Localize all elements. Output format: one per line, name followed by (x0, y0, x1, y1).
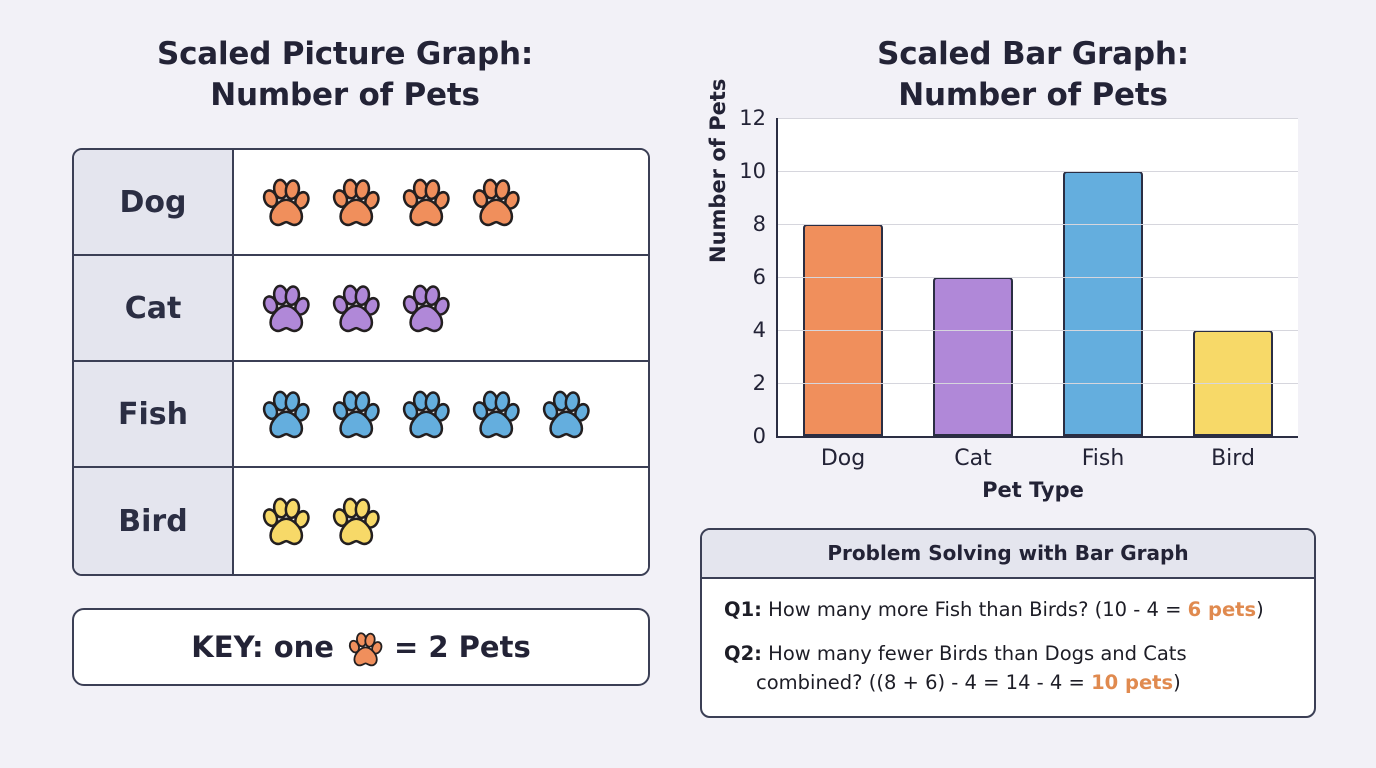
key-prefix-label: KEY: one (191, 630, 334, 664)
picture-graph-panel: Scaled Picture Graph: Number of Pets Dog… (0, 0, 690, 768)
y-axis-tick-label: 8 (753, 212, 778, 236)
picture-graph-row-icons (234, 468, 648, 574)
picture-graph-key: KEY: one = 2 Pets (72, 608, 650, 686)
bar-fish (1063, 171, 1143, 436)
paw-icon (326, 386, 382, 442)
x-axis-tick-label: Cat (908, 436, 1038, 471)
paw-icon (396, 386, 452, 442)
paw-icon (466, 174, 522, 230)
problem-question: Q1: How many more Fish than Birds? (10 -… (724, 595, 1292, 625)
paw-icon (256, 174, 312, 230)
question-answer: 6 pets (1188, 598, 1256, 621)
y-axis-tick-label: 4 (753, 318, 778, 342)
question-text-continuation: combined? ((8 + 6) - 4 = 14 - 4 = 10 pet… (724, 668, 1292, 698)
y-axis-label: Number of Pets (706, 79, 730, 263)
paw-icon (396, 174, 452, 230)
picture-graph-row-label: Fish (74, 362, 234, 466)
bar-chart: Number of Pets DogCatFishBird 024681012 … (698, 118, 1368, 508)
plot-area: DogCatFishBird 024681012 (776, 118, 1298, 438)
paw-icon (326, 493, 382, 549)
question-text: How many more Fish than Birds? (10 - 4 = (762, 598, 1188, 621)
bar-graph-title-line2: Number of Pets (690, 75, 1376, 116)
question-text-tail: ) (1256, 598, 1264, 621)
paw-icon (536, 386, 592, 442)
y-axis-tick-label: 2 (753, 371, 778, 395)
gridline (778, 277, 1298, 278)
question-tag: Q2: (724, 642, 762, 665)
question-tag: Q1: (724, 598, 762, 621)
gridline (778, 224, 1298, 225)
paw-icon (256, 280, 312, 336)
picture-graph-row-label: Cat (74, 256, 234, 360)
picture-graph-row-icons (234, 362, 648, 466)
picture-graph-row: Dog (74, 150, 648, 256)
bar-graph-title-line1: Scaled Bar Graph: (877, 36, 1189, 72)
infographic-page: Scaled Picture Graph: Number of Pets Dog… (0, 0, 1376, 768)
picture-graph-row-label: Dog (74, 150, 234, 254)
picture-graph-row: Bird (74, 468, 648, 574)
problem-solving-box: Problem Solving with Bar Graph Q1: How m… (700, 528, 1316, 718)
picture-graph-title-line1: Scaled Picture Graph: (157, 36, 533, 72)
gridline (778, 171, 1298, 172)
picture-graph-title: Scaled Picture Graph: Number of Pets (0, 34, 690, 116)
x-axis-tick-label: Bird (1168, 436, 1298, 471)
y-axis-tick-label: 12 (739, 106, 778, 130)
picture-graph-title-line2: Number of Pets (0, 75, 690, 116)
y-axis-tick-label: 10 (739, 159, 778, 183)
paw-icon (256, 493, 312, 549)
bar-graph-panel: Scaled Bar Graph: Number of Pets Number … (690, 0, 1376, 768)
paw-icon (466, 386, 522, 442)
paw-icon (396, 280, 452, 336)
problem-question: Q2: How many fewer Birds than Dogs and C… (724, 639, 1292, 698)
gridline (778, 330, 1298, 331)
gridline (778, 383, 1298, 384)
x-axis-tick-label: Fish (1038, 436, 1168, 471)
picture-graph-table: DogCatFishBird (72, 148, 650, 576)
gridline (778, 118, 1298, 119)
bar-cat (933, 277, 1013, 436)
y-axis-tick-label: 6 (753, 265, 778, 289)
picture-graph-row: Fish (74, 362, 648, 468)
question-text: How many fewer Birds than Dogs and Cats (762, 642, 1187, 665)
picture-graph-row-icons (234, 256, 648, 360)
paw-icon (256, 386, 312, 442)
paw-icon (344, 629, 384, 669)
picture-graph-row: Cat (74, 256, 648, 362)
question-answer: 10 pets (1091, 671, 1173, 694)
bar-graph-title: Scaled Bar Graph: Number of Pets (690, 34, 1376, 116)
key-suffix-label: = 2 Pets (394, 630, 531, 664)
picture-graph-row-icons (234, 150, 648, 254)
y-axis-tick-label: 0 (753, 424, 778, 448)
x-axis-label: Pet Type (698, 478, 1368, 502)
problem-box-header: Problem Solving with Bar Graph (702, 530, 1314, 579)
paw-icon (326, 174, 382, 230)
picture-graph-row-label: Bird (74, 468, 234, 574)
problem-box-body: Q1: How many more Fish than Birds? (10 -… (702, 579, 1314, 716)
x-axis-tick-label: Dog (778, 436, 908, 471)
paw-icon (326, 280, 382, 336)
